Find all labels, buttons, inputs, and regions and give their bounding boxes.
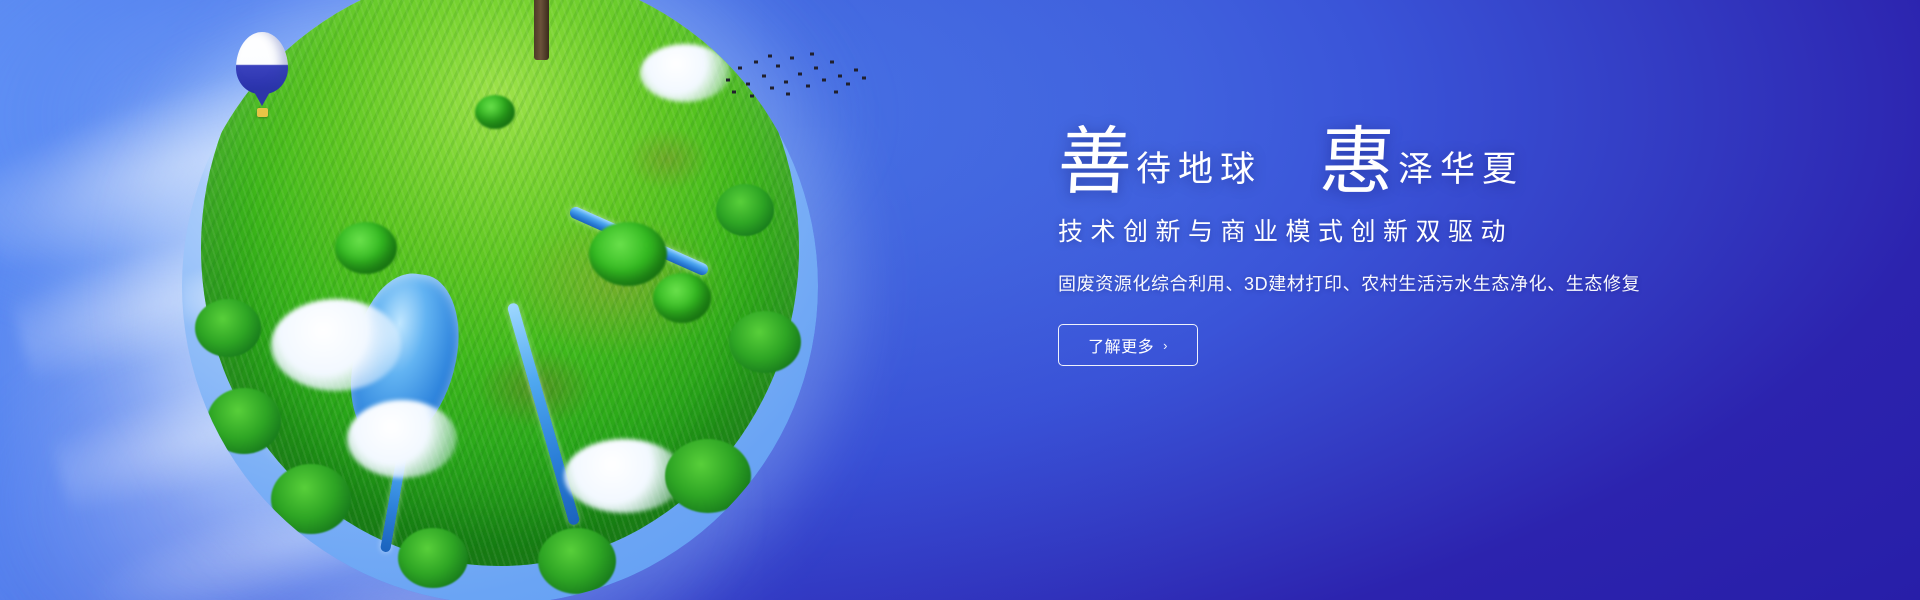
headline-phrase-2: 惠 泽华夏: [1320, 128, 1524, 196]
rim-tree: [398, 528, 468, 588]
headline-rest-1: 待地球: [1136, 153, 1262, 188]
headline-lead-char-2: 惠: [1318, 128, 1396, 196]
forest-clump: [653, 273, 711, 323]
headline-phrase-1: 善 待地球: [1058, 128, 1262, 196]
balloon-skirt: [253, 90, 271, 106]
bird-flock-icon: [720, 52, 870, 100]
hero-content: 善 待地球 惠 泽华夏 技术创新与商业模式创新双驱动 固废资源化综合利用、3D建…: [1058, 128, 1818, 366]
chevron-right-icon: ›: [1163, 338, 1168, 353]
cloud-puff: [640, 44, 730, 102]
rim-tree: [195, 299, 261, 357]
tree-trunk: [534, 0, 549, 60]
learn-more-label: 了解更多: [1088, 333, 1154, 357]
page-subtitle: 技术创新与商业模式创新双驱动: [1058, 212, 1818, 248]
rim-tree: [271, 464, 351, 534]
cloud-puff: [271, 299, 401, 391]
rim-tree: [729, 311, 801, 373]
rim-tree: [665, 439, 751, 513]
headline-lead-char-1: 善: [1056, 128, 1134, 196]
hero-banner: 善 待地球 惠 泽华夏 技术创新与商业模式创新双驱动 固废资源化综合利用、3D建…: [0, 0, 1920, 600]
page-description: 固废资源化综合利用、3D建材打印、农村生活污水生态净化、生态修复: [1058, 270, 1818, 296]
balloon-envelope: [236, 32, 288, 94]
hot-air-balloon-icon: [236, 32, 288, 124]
page-title: 善 待地球 惠 泽华夏: [1058, 128, 1818, 196]
forest-clump: [475, 95, 515, 129]
rim-tree: [207, 388, 281, 454]
learn-more-button[interactable]: 了解更多 ›: [1058, 324, 1198, 366]
rim-tree: [538, 528, 616, 594]
headline-rest-2: 泽华夏: [1398, 153, 1524, 188]
tree-icon: [442, 0, 642, 56]
forest-clump: [335, 222, 397, 274]
forest-clump: [589, 222, 667, 286]
balloon-basket: [257, 108, 268, 117]
